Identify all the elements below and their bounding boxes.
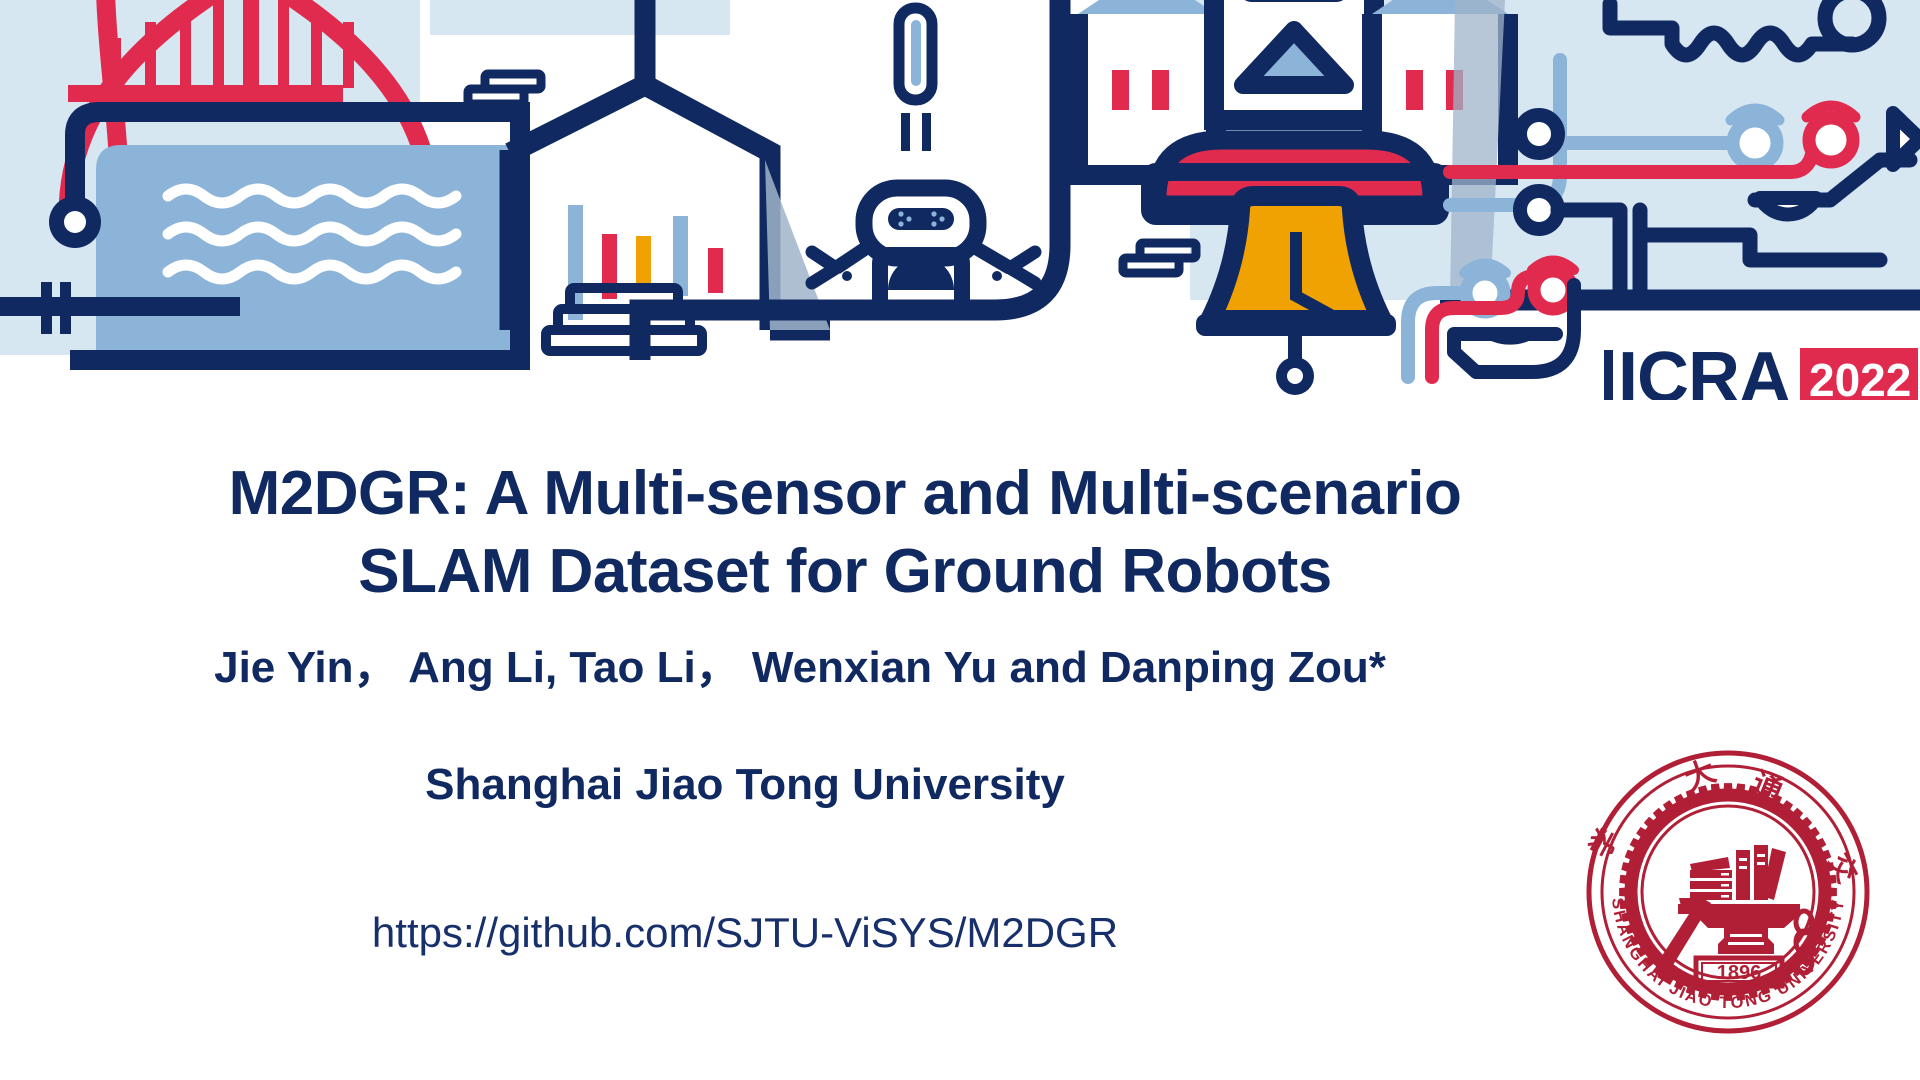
conference-banner-artwork: ICRA 2022 IEEE International Conference … bbox=[0, 0, 1920, 400]
sky-patch-top bbox=[430, 0, 730, 35]
water-icon bbox=[49, 112, 530, 360]
museum-house-icon bbox=[510, 0, 830, 330]
project-url-link[interactable]: https://github.com/SJTU-ViSYS/M2DGR bbox=[0, 905, 1490, 961]
sjtu-university-seal: 1896 大 通 学 交 SHANGHAI JIAO TONG UNIVERSI… bbox=[1578, 742, 1878, 1042]
icra-year-text: 2022 bbox=[1809, 354, 1911, 400]
author-list: Jie Yin， Ang Li, Tao Li， Wenxian Yu and … bbox=[0, 638, 1600, 698]
city-buildings-icon bbox=[1078, 0, 1508, 216]
affiliation: Shanghai Jiao Tong University bbox=[0, 755, 1490, 815]
road-path bbox=[640, 0, 1060, 360]
icra-divider-bar bbox=[1604, 350, 1613, 400]
slide-title: M2DGR: A Multi-sensor and Multi-scenario… bbox=[0, 455, 1690, 611]
icra-wordmark: ICRA bbox=[1618, 338, 1790, 400]
robot-icon bbox=[812, 188, 1035, 308]
seal-year-text: 1896 bbox=[1717, 962, 1762, 984]
antenna-icon bbox=[899, 8, 932, 151]
title-line-2: SLAM Dataset for Ground Robots bbox=[0, 533, 1690, 611]
title-line-1: M2DGR: A Multi-sensor and Multi-scenario bbox=[0, 455, 1690, 533]
